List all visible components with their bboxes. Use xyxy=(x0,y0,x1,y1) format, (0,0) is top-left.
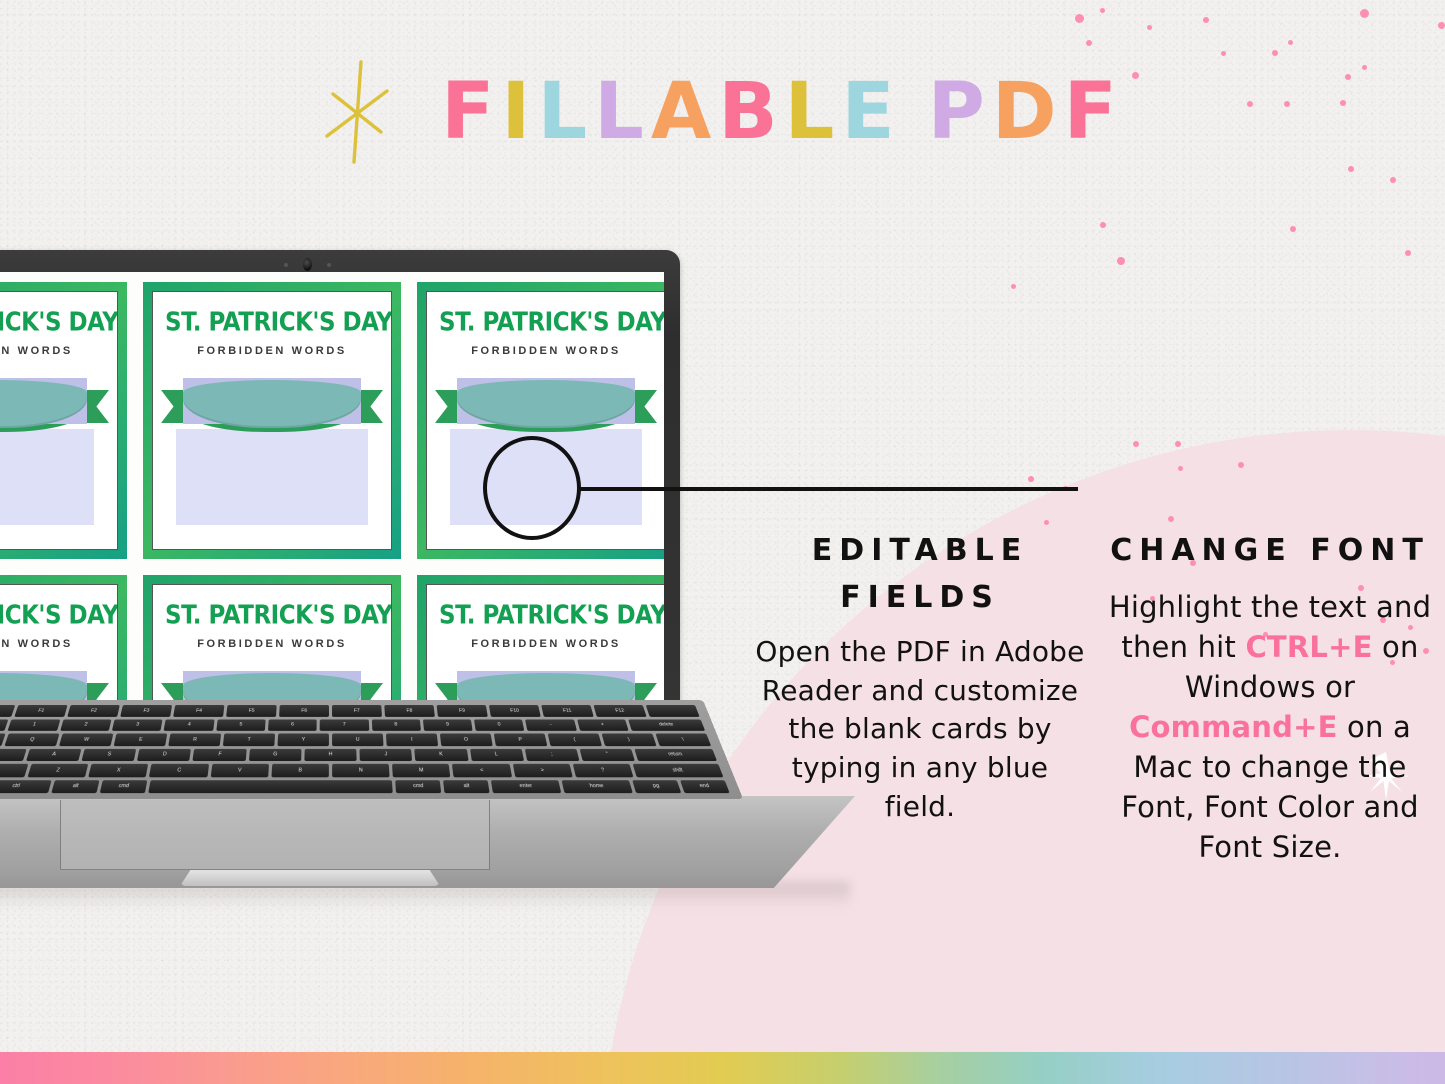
confetti-dot xyxy=(1044,520,1049,525)
keyboard-key[interactable]: alt xyxy=(443,780,490,793)
sensor-dot-left xyxy=(284,263,288,267)
keyboard-key[interactable]: F5 xyxy=(226,705,277,716)
keyboard-row: escF1F2F3F4F5F6F7F8F9F10F11F12 xyxy=(0,705,699,716)
keyboard[interactable]: escF1F2F3F4F5F6F7F8F9F10F11F12~123456789… xyxy=(0,700,743,799)
keyboard-row: shiftZXCVBNM<>?shift xyxy=(0,764,723,777)
card-subtitle: FORBIDDEN WORDS xyxy=(0,638,105,650)
keyboard-key[interactable]: V xyxy=(210,764,268,777)
keyboard-key[interactable]: F6 xyxy=(279,705,329,716)
keyboard-key[interactable]: cmd xyxy=(395,780,441,793)
keyboard-row: fnctrlaltcmdcmdaltenterhomepgend xyxy=(0,780,730,793)
title-letter: D xyxy=(992,73,1064,151)
keyboard-key[interactable]: end xyxy=(680,780,730,793)
confetti-dot xyxy=(1011,284,1016,289)
printable-card: ST. PATRICK'S DAYFORBIDDEN WORDS xyxy=(0,575,127,709)
keyboard-key[interactable]: 4 xyxy=(164,719,214,731)
keyboard-key[interactable]: P xyxy=(494,734,548,746)
editable-blue-field[interactable] xyxy=(176,429,368,525)
editable-field-highlight-circle xyxy=(483,436,581,540)
confetti-dot xyxy=(1390,177,1396,183)
keyboard-key[interactable]: F12 xyxy=(593,705,646,716)
confetti-dot xyxy=(1272,50,1278,56)
confetti-dot xyxy=(1290,226,1296,232)
page-title: FILLABLEPDF xyxy=(441,73,1124,151)
confetti-dot xyxy=(1360,9,1369,18)
keyboard-key[interactable]: ; xyxy=(525,748,580,761)
card-title: ST. PATRICK'S DAY xyxy=(165,308,379,337)
keyboard-key[interactable]: J xyxy=(360,748,413,761)
card-inner: ST. PATRICK'S DAYFORBIDDEN WORDS xyxy=(0,584,118,709)
card-subtitle: FORBIDDEN WORDS xyxy=(439,345,653,357)
sensor-dot-right xyxy=(327,263,331,267)
keyboard-key[interactable]: O xyxy=(440,734,493,746)
webcam-icon xyxy=(303,258,312,271)
keyboard-key[interactable]: I xyxy=(386,734,438,746)
keyboard-key[interactable]: < xyxy=(452,764,511,777)
keyboard-key[interactable]: K xyxy=(415,748,469,761)
keyboard-key[interactable]: F3 xyxy=(120,705,172,716)
keyboard-key[interactable]: ctrl xyxy=(0,780,52,793)
title-letter: E xyxy=(841,73,901,151)
keyboard-row: lockASDFGHJKL;"return xyxy=(0,748,717,761)
card-title: ST. PATRICK'S DAY xyxy=(165,601,379,630)
webcam-row xyxy=(0,258,680,271)
keyboard-key[interactable]: 2 xyxy=(60,719,112,731)
keyboard-row: tabQWERTYUIOP()\ xyxy=(0,734,711,746)
confetti-dot xyxy=(1221,51,1226,56)
keyboard-key[interactable] xyxy=(148,780,393,793)
title-letter: A xyxy=(651,73,718,151)
keyboard-key[interactable]: C xyxy=(149,764,208,777)
card-subtitle: FORBIDDEN WORDS xyxy=(165,638,379,650)
title-letter: F xyxy=(441,73,501,151)
keyboard-key[interactable]: A xyxy=(26,748,82,761)
confetti-dot xyxy=(1288,40,1293,45)
confetti-dot xyxy=(1075,14,1084,23)
keyboard-key[interactable]: T xyxy=(223,734,275,746)
keyboard-key[interactable]: 9 xyxy=(423,719,473,731)
title-letter: F xyxy=(1064,73,1124,151)
title-letter: L xyxy=(537,73,594,151)
keyboard-key[interactable]: Q xyxy=(5,734,60,746)
keyboard-key[interactable]: esc xyxy=(0,705,15,716)
confetti-dot xyxy=(1438,22,1445,29)
card-title: ST. PATRICK'S DAY xyxy=(439,308,653,337)
keyboard-key[interactable]: Y xyxy=(277,734,328,746)
keyboard-key[interactable]: shift xyxy=(0,764,28,777)
keyboard-key[interactable]: ( xyxy=(548,734,602,746)
keyboard-key[interactable]: X xyxy=(88,764,148,777)
card-title: ST. PATRICK'S DAY xyxy=(0,601,105,630)
confetti-dot xyxy=(1100,222,1106,228)
confetti-dot xyxy=(1175,441,1181,447)
gold-sparkle-icon xyxy=(321,58,395,166)
card-inner: ST. PATRICK'S DAYFORBIDDEN WORDS xyxy=(152,584,392,709)
printable-card: ST. PATRICK'S DAYFORBIDDEN WORDS xyxy=(143,575,401,709)
keyboard-key[interactable]: B xyxy=(271,764,329,777)
card-title: ST. PATRICK'S DAY xyxy=(0,308,105,337)
keyboard-key[interactable]: shift xyxy=(633,764,724,777)
keyboard-key[interactable]: L xyxy=(470,748,524,761)
keyboard-key[interactable]: 5 xyxy=(216,719,266,731)
keyboard-key[interactable]: ) xyxy=(602,734,657,746)
callout-connector-line xyxy=(580,487,1078,491)
editable-fields-heading: EDITABLE FIELDS xyxy=(753,528,1087,621)
change-font-heading: CHANGE FONT xyxy=(1103,528,1437,575)
keyboard-key[interactable]: N xyxy=(332,764,390,777)
confetti-dot xyxy=(1133,441,1139,447)
printable-card: ST. PATRICK'S DAYFORBIDDEN WORDS xyxy=(143,282,401,559)
keyboard-key[interactable]: F xyxy=(193,748,247,761)
card-inner: ST. PATRICK'S DAYFORBIDDEN WORDS xyxy=(426,584,664,709)
keyboard-key[interactable]: E xyxy=(114,734,168,746)
keyboard-key[interactable]: lock xyxy=(0,748,27,761)
card-inner: ST. PATRICK'S DAYFORBIDDEN WORDS xyxy=(152,291,392,550)
keyboard-key[interactable]: alt xyxy=(51,780,99,793)
column-change-font: CHANGE FONT Highlight the text and then … xyxy=(1095,528,1445,867)
editable-fields-body: Open the PDF in Adobe Reader and customi… xyxy=(753,633,1087,826)
keyboard-key[interactable]: F11 xyxy=(541,705,593,716)
keyboard-row: ~1234567890-+delete xyxy=(0,719,705,731)
keyboard-key[interactable]: 3 xyxy=(112,719,163,731)
keyboard-key[interactable]: F7 xyxy=(332,705,382,716)
keyboard-key[interactable]: pg xyxy=(632,780,681,793)
keyboard-key[interactable]: 0 xyxy=(474,719,525,731)
laptop-chassis xyxy=(0,796,855,888)
column-editable-fields: EDITABLE FIELDS Open the PDF in Adobe Re… xyxy=(745,528,1095,867)
title-letter: L xyxy=(785,73,842,151)
change-font-body: Highlight the text and then hit CTRL+E o… xyxy=(1103,587,1437,867)
keyboard-key[interactable]: Z xyxy=(27,764,88,777)
keyboard-key[interactable]: F2 xyxy=(67,705,119,716)
card-subtitle: FORBIDDEN WORDS xyxy=(165,345,379,357)
keyboard-key[interactable]: F1 xyxy=(14,705,67,716)
printable-card: ST. PATRICK'S DAYFORBIDDEN WORDS xyxy=(0,282,127,559)
title-letter: B xyxy=(718,73,784,151)
confetti-dot xyxy=(1203,17,1209,23)
confetti-dot xyxy=(1147,25,1152,30)
keyboard-key[interactable]: return xyxy=(634,748,717,761)
keyboard-key[interactable]: M xyxy=(392,764,450,777)
keyboard-key[interactable]: cmd xyxy=(100,780,148,793)
keyboard-key[interactable]: home xyxy=(562,780,633,793)
laptop-shadow xyxy=(0,882,850,908)
info-columns: EDITABLE FIELDS Open the PDF in Adobe Re… xyxy=(745,528,1445,867)
keyboard-key[interactable]: W xyxy=(59,734,113,746)
keyboard-key[interactable]: D xyxy=(137,748,191,761)
trackpad[interactable] xyxy=(60,800,490,870)
page-header: FILLABLEPDF xyxy=(0,58,1445,166)
poster-canvas: FILLABLEPDF ST. PATRICK'S DAYFORBIDDEN W… xyxy=(0,0,1445,1084)
keyboard-key[interactable]: delete xyxy=(628,719,705,731)
card-title: ST. PATRICK'S DAY xyxy=(439,601,653,630)
keyboard-key[interactable]: G xyxy=(249,748,302,761)
keyboard-key[interactable] xyxy=(646,705,700,716)
editable-blue-field[interactable] xyxy=(0,429,94,525)
confetti-dot xyxy=(1117,257,1125,265)
keyboard-key[interactable]: " xyxy=(579,748,635,761)
keyboard-key[interactable]: \ xyxy=(655,734,711,746)
keyboard-key[interactable]: 1 xyxy=(8,719,60,731)
confetti-dot xyxy=(1086,40,1092,46)
confetti-dot xyxy=(1238,462,1244,468)
confetti-dot xyxy=(1100,8,1105,13)
keyboard-key[interactable]: 7 xyxy=(320,719,369,731)
printable-card: ST. PATRICK'S DAYFORBIDDEN WORDS xyxy=(417,575,664,709)
keyboard-key[interactable]: + xyxy=(577,719,629,731)
keyboard-key[interactable]: U xyxy=(332,734,383,746)
keyboard-key[interactable]: S xyxy=(82,748,137,761)
card-subtitle: FORBIDDEN WORDS xyxy=(0,345,105,357)
keyboard-key[interactable]: - xyxy=(525,719,576,731)
shortcut-highlight: Command+E xyxy=(1129,710,1338,744)
keyboard-key[interactable]: > xyxy=(513,764,573,777)
shortcut-highlight: CTRL+E xyxy=(1245,630,1372,664)
confetti-dot xyxy=(1178,466,1183,471)
title-letter: P xyxy=(928,73,992,151)
confetti-dot xyxy=(1405,250,1411,256)
card-subtitle: FORBIDDEN WORDS xyxy=(439,638,653,650)
confetti-dot xyxy=(1348,166,1354,172)
confetti-dot xyxy=(1168,516,1174,522)
keyboard-key[interactable]: R xyxy=(168,734,221,746)
keyboard-key[interactable]: 6 xyxy=(268,719,317,731)
keyboard-key[interactable]: ? xyxy=(573,764,634,777)
keyboard-key[interactable]: F8 xyxy=(384,705,435,716)
title-letter: L xyxy=(594,73,651,151)
keyboard-key[interactable]: F9 xyxy=(437,705,488,716)
keyboard-key[interactable]: H xyxy=(304,748,356,761)
keyboard-key[interactable]: 8 xyxy=(371,719,420,731)
keyboard-key[interactable]: F4 xyxy=(173,705,224,716)
keyboard-key[interactable]: enter xyxy=(491,780,561,793)
card-inner: ST. PATRICK'S DAYFORBIDDEN WORDS xyxy=(0,291,118,550)
confetti-dot xyxy=(1028,476,1034,482)
keyboard-key[interactable]: F10 xyxy=(489,705,541,716)
title-letter: I xyxy=(501,73,537,151)
rainbow-gradient-bar xyxy=(0,1052,1445,1084)
